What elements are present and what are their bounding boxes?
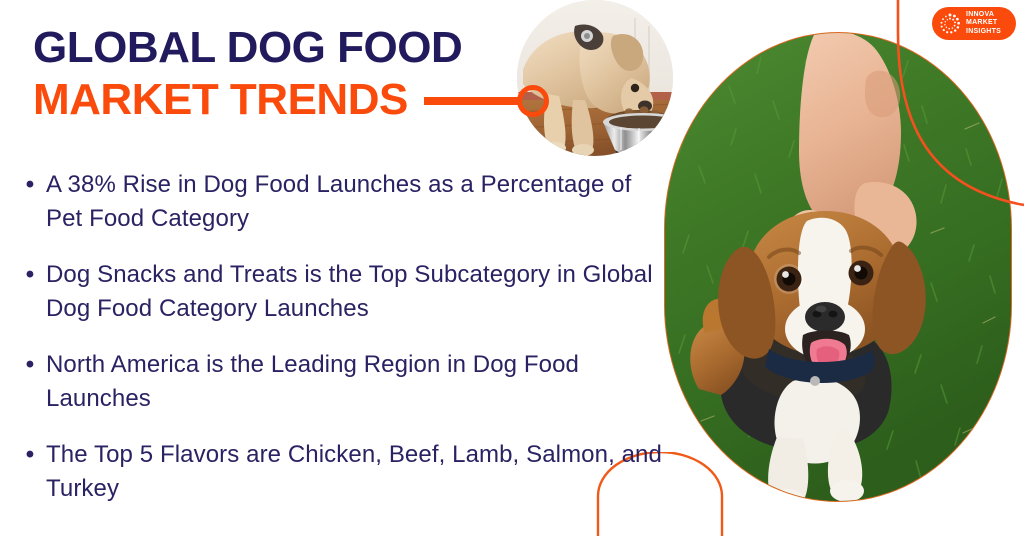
slide-canvas: GLOBAL DOG FOOD MARKET TRENDS [0,0,1024,536]
logo-line-2: MARKET [966,19,1016,27]
bullet-marker-icon: • [14,258,46,292]
innova-market-insights-logo[interactable]: INNOVA MARKET INSIGHTS [932,7,1016,40]
bullet-marker-icon: • [14,168,46,202]
beagle-photo [664,32,1012,502]
logo-line-1: INNOVA [966,11,1016,19]
dotted-circle-icon [938,12,962,36]
list-item: • A 38% Rise in Dog Food Launches as a P… [14,168,674,236]
orange-connector-ring-icon [517,85,549,117]
bullet-marker-icon: • [14,438,46,472]
title-line-secondary: MARKET TRENDS [33,74,462,126]
list-item: • Dog Snacks and Treats is the Top Subca… [14,258,674,326]
title-line-primary: GLOBAL DOG FOOD [33,22,462,74]
bullet-text: North America is the Leading Region in D… [46,348,674,416]
bullet-text: Dog Snacks and Treats is the Top Subcate… [46,258,674,326]
logo-wordmark: INNOVA MARKET INSIGHTS [966,11,1016,36]
bullet-marker-icon: • [14,348,46,382]
list-item: • The Top 5 Flavors are Chicken, Beef, L… [14,438,674,506]
dog-eating-photo [517,0,673,156]
list-item: • North America is the Leading Region in… [14,348,674,416]
bullet-text: A 38% Rise in Dog Food Launches as a Per… [46,168,674,236]
page-title: GLOBAL DOG FOOD MARKET TRENDS [33,22,462,126]
logo-line-3: INSIGHTS [966,28,1016,36]
bullet-text: The Top 5 Flavors are Chicken, Beef, Lam… [46,438,674,506]
bullet-list: • A 38% Rise in Dog Food Launches as a P… [14,168,674,506]
